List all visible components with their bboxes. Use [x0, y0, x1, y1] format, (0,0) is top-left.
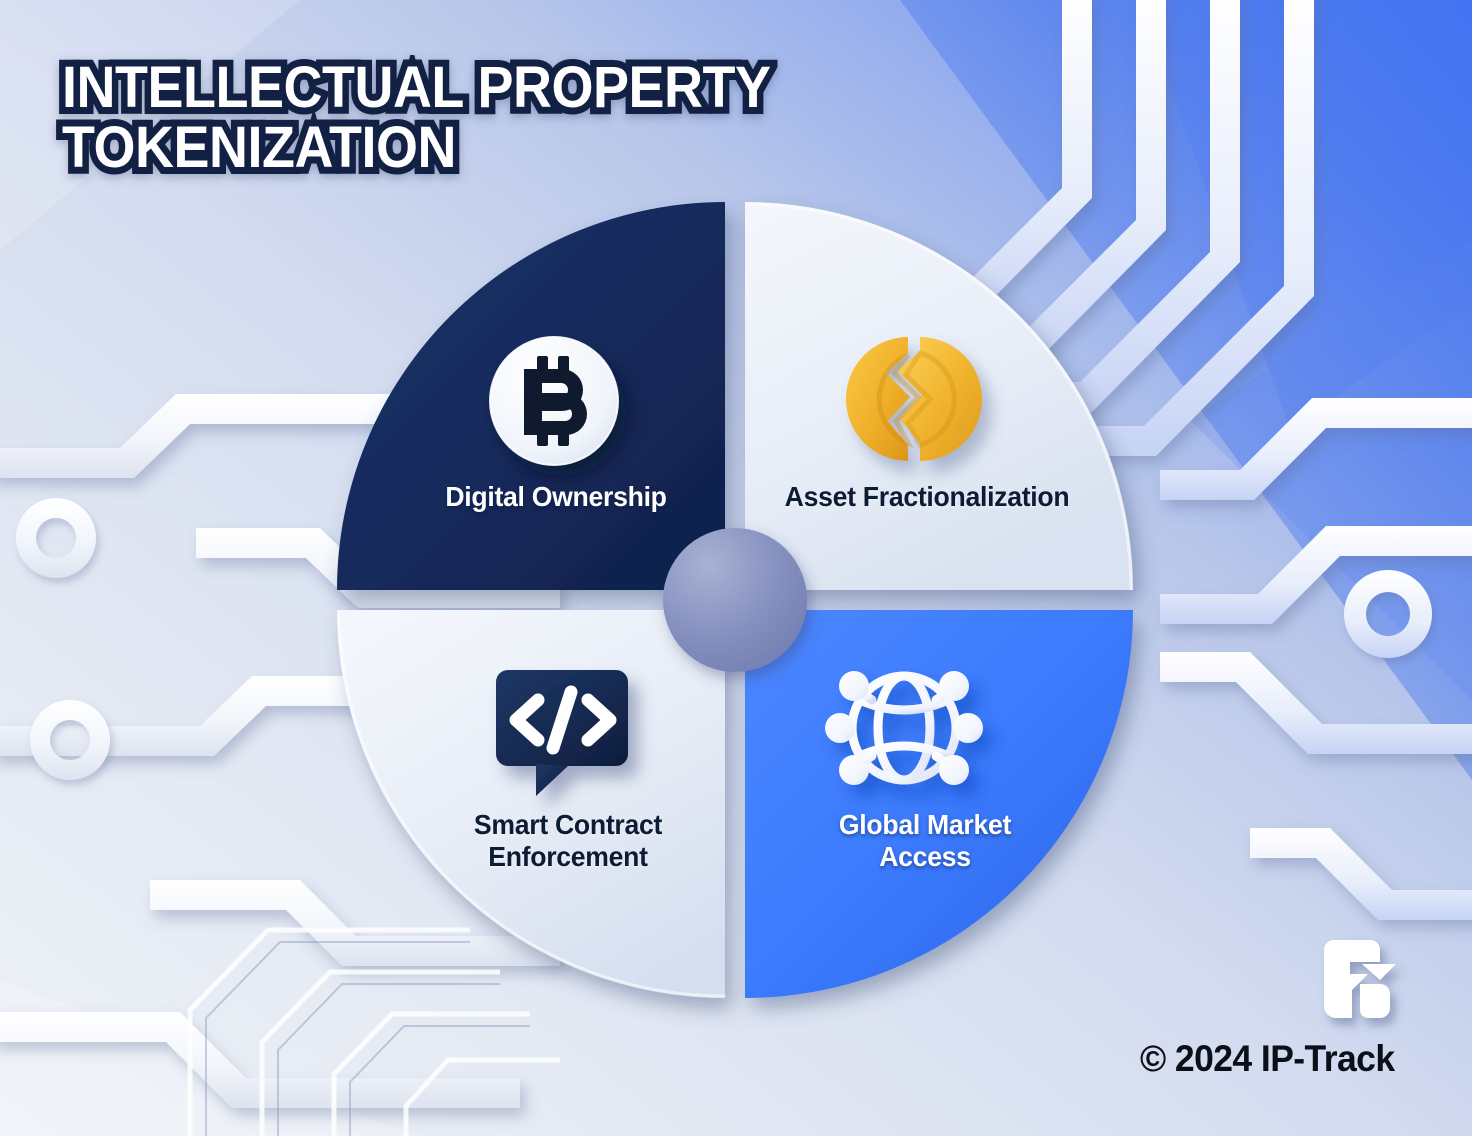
broken-coin-icon: [828, 333, 1000, 465]
globe-network-icon: [824, 648, 984, 804]
bitcoin-coin-icon: [488, 333, 628, 473]
quadrant-wheel-chart: [325, 190, 1145, 1010]
ip-track-r-logo: [1322, 938, 1398, 1020]
code-bubble-icon: [492, 666, 640, 798]
page-title: Intellectual Property Tokenization: [62, 58, 770, 177]
wheel-center-hub: [663, 528, 807, 672]
copyright-text: © 2024 IP-Track: [1140, 1038, 1395, 1080]
